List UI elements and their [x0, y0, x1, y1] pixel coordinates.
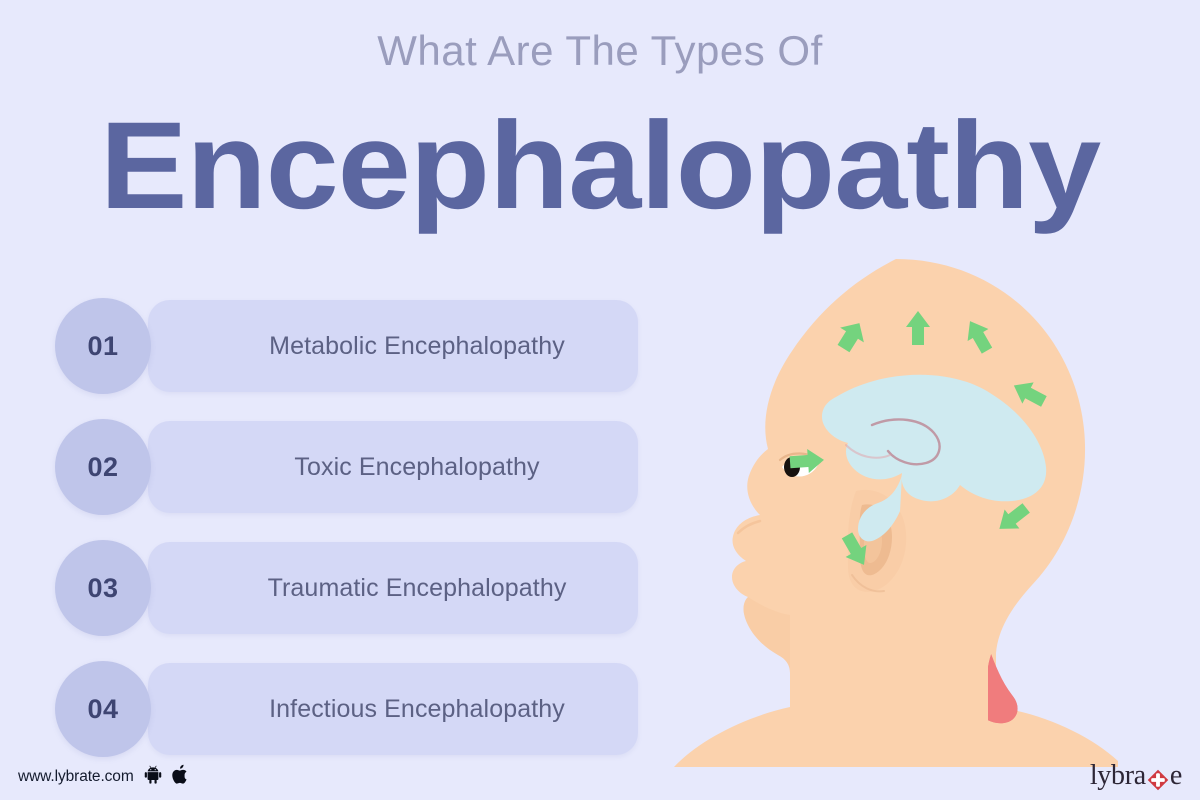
- type-bar: Metabolic Encephalopathy: [148, 300, 638, 392]
- type-bar: Infectious Encephalopathy: [148, 663, 638, 755]
- logo-text-before: lybra: [1090, 760, 1146, 792]
- type-badge: 02: [55, 419, 151, 515]
- type-label: Toxic Encephalopathy: [148, 421, 638, 513]
- brain-illustration: [660, 255, 1130, 767]
- list-item[interactable]: Toxic Encephalopathy 02: [55, 421, 638, 513]
- website-url[interactable]: www.lybrate.com: [18, 768, 134, 786]
- type-bar: Toxic Encephalopathy: [148, 421, 638, 513]
- type-label: Traumatic Encephalopathy: [148, 542, 638, 634]
- type-label: Metabolic Encephalopathy: [148, 300, 638, 392]
- type-number: 03: [87, 573, 118, 604]
- type-badge: 01: [55, 298, 151, 394]
- apple-icon[interactable]: [172, 764, 190, 790]
- list-item[interactable]: Metabolic Encephalopathy 01: [55, 300, 638, 392]
- page-subtitle: What Are The Types Of: [0, 30, 1200, 72]
- android-icon[interactable]: [143, 765, 163, 790]
- footer-left: www.lybrate.com: [18, 764, 190, 790]
- medical-plus-diamond-icon: [1147, 767, 1169, 789]
- type-number: 01: [87, 331, 118, 362]
- infographic-canvas: What Are The Types Of Encephalopathy Met…: [0, 0, 1200, 800]
- type-bar: Traumatic Encephalopathy: [148, 542, 638, 634]
- types-list: Metabolic Encephalopathy 01 Toxic Enceph…: [55, 300, 645, 756]
- type-number: 02: [87, 452, 118, 483]
- type-number: 04: [87, 694, 118, 725]
- type-badge: 03: [55, 540, 151, 636]
- list-item[interactable]: Traumatic Encephalopathy 03: [55, 542, 638, 634]
- type-badge: 04: [55, 661, 151, 757]
- page-title: Encephalopathy: [0, 104, 1200, 228]
- list-item[interactable]: Infectious Encephalopathy 04: [55, 663, 638, 755]
- logo-text-after: e: [1170, 760, 1182, 792]
- lybrate-logo[interactable]: lybra e: [1090, 760, 1182, 792]
- type-label: Infectious Encephalopathy: [148, 663, 638, 755]
